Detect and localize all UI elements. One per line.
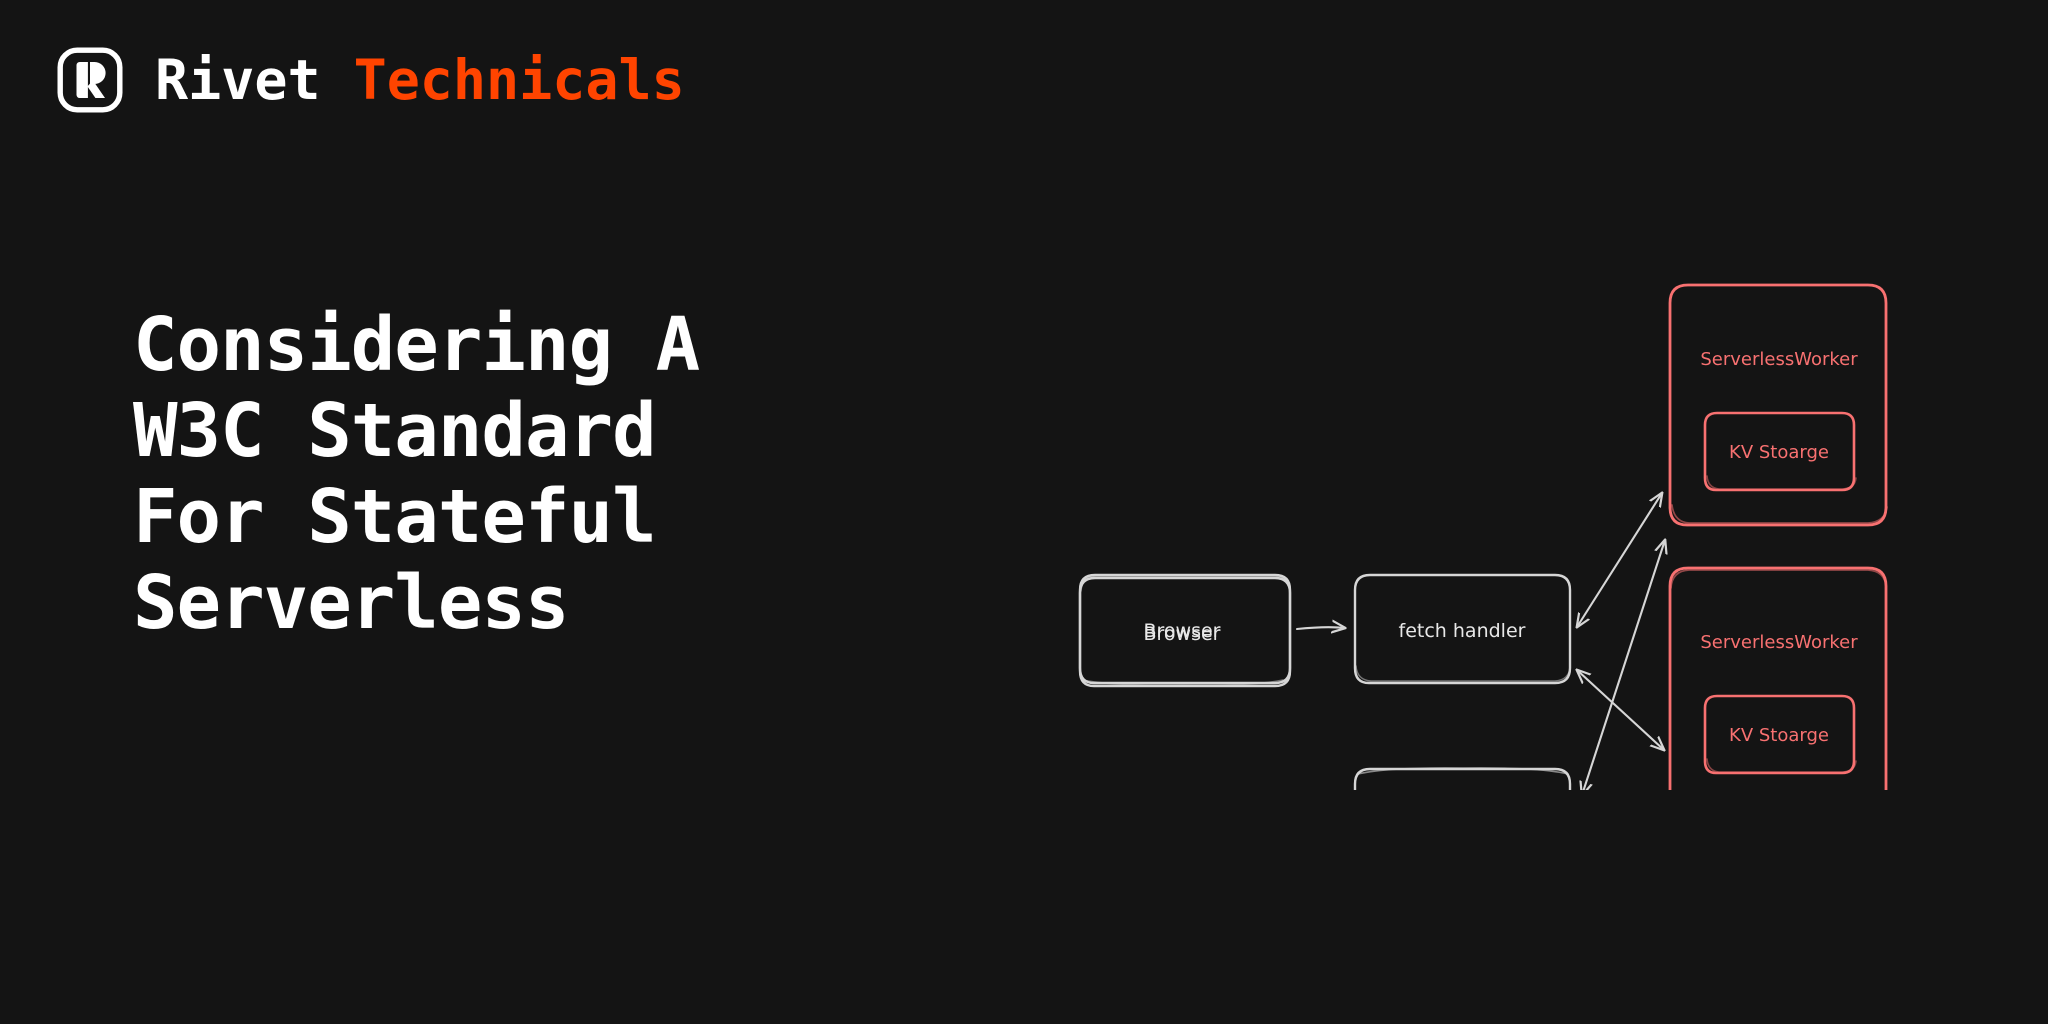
title-line-1: Considering A (133, 302, 893, 388)
diagram-label-kv-storage-1: KV Stoarge (1729, 442, 1829, 463)
poster-canvas: Rivet Technicals Considering A W3C Stand… (0, 0, 2048, 1024)
diagram-label-serverless-worker-1: ServerlessWorker (1700, 349, 1858, 370)
title-line-2: W3C Standard (133, 388, 893, 474)
diagram-arrow-fetch-handler-1-to-worker-2 (1577, 670, 1664, 750)
diagram-node-serverless-worker-2: ServerlessWorker KV Stoarge (1670, 568, 1886, 790)
diagram-node-browser-2: Browser (1080, 578, 1290, 686)
diagram-node-fetch-handler-1: fetch handler (1355, 575, 1570, 683)
page-title: Considering A W3C Standard For Stateful … (133, 302, 893, 646)
diagram-arrow-fetch-handler-1-to-worker-1 (1577, 493, 1662, 627)
brand-name: Rivet (155, 53, 321, 108)
diagram-arrow-fetch-handler-2-to-worker-1 (1582, 540, 1665, 790)
diagram-label-serverless-worker-2: ServerlessWorker (1700, 632, 1858, 653)
brand-suffix: Technicals (354, 53, 685, 108)
title-line-3: For Stateful (133, 474, 893, 560)
diagram-label-kv-storage-2: KV Stoarge (1729, 725, 1829, 746)
rivet-r-logo-icon (57, 47, 123, 113)
diagram-node-fetch-handler-2: fetch handler (1355, 768, 1570, 790)
site-header: Rivet Technicals (57, 44, 685, 116)
architecture-diagram: Browser Browser fetch handler fetch hand… (1050, 250, 1970, 790)
diagram-label-fetch-handler-1: fetch handler (1399, 620, 1526, 642)
title-line-4: Serverless (133, 560, 893, 646)
brand-wordmark: Rivet Technicals (155, 53, 685, 108)
diagram-arrow-browser-1-to-fetch-handler-1 (1297, 627, 1345, 629)
diagram-label-browser-2: Browser (1144, 623, 1221, 645)
diagram-node-serverless-worker-1: ServerlessWorker KV Stoarge (1670, 285, 1887, 525)
